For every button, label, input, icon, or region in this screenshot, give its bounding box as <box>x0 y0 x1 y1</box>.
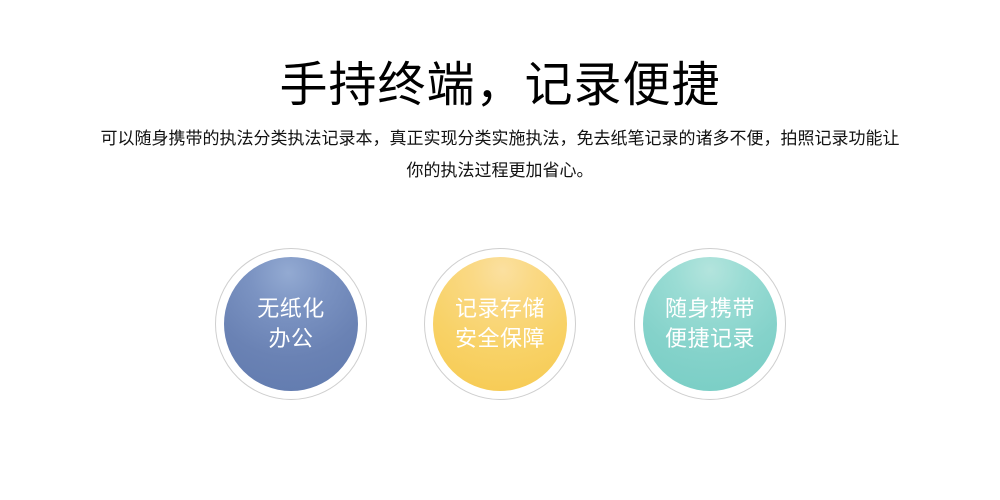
feature-circle-fill: 记录存储 安全保障 <box>433 257 567 391</box>
feature-circle-fill: 随身携带 便捷记录 <box>643 257 777 391</box>
feature-label-line-2: 便捷记录 <box>665 324 755 354</box>
feature-label-line-2: 办公 <box>268 324 313 354</box>
feature-label-line-1: 记录存储 <box>455 294 545 324</box>
feature-circle-row: 无纸化 办公 记录存储 安全保障 随身携带 便捷记录 <box>0 248 1000 408</box>
page-title: 手持终端，记录便捷 <box>0 56 1000 116</box>
feature-label-line-1: 随身携带 <box>665 294 755 324</box>
feature-label-line-1: 无纸化 <box>257 294 325 324</box>
feature-label-line-2: 安全保障 <box>455 324 545 354</box>
feature-circle-fill: 无纸化 办公 <box>224 257 358 391</box>
page-description: 可以随身携带的执法分类执法记录本，真正实现分类实施执法，免去纸笔记录的诸多不便，… <box>60 123 940 187</box>
feature-circle-portable-convenient-record[interactable]: 随身携带 便捷记录 <box>634 248 786 400</box>
page-description-line-1: 可以随身携带的执法分类执法记录本，真正实现分类实施执法，免去纸笔记录的诸多不便，… <box>60 123 940 155</box>
feature-circle-paperless-office[interactable]: 无纸化 办公 <box>215 248 367 400</box>
page-description-line-2: 你的执法过程更加省心。 <box>60 155 940 187</box>
feature-circle-record-storage-security[interactable]: 记录存储 安全保障 <box>424 248 576 400</box>
promo-page: 手持终端，记录便捷 可以随身携带的执法分类执法记录本，真正实现分类实施执法，免去… <box>0 0 1000 500</box>
